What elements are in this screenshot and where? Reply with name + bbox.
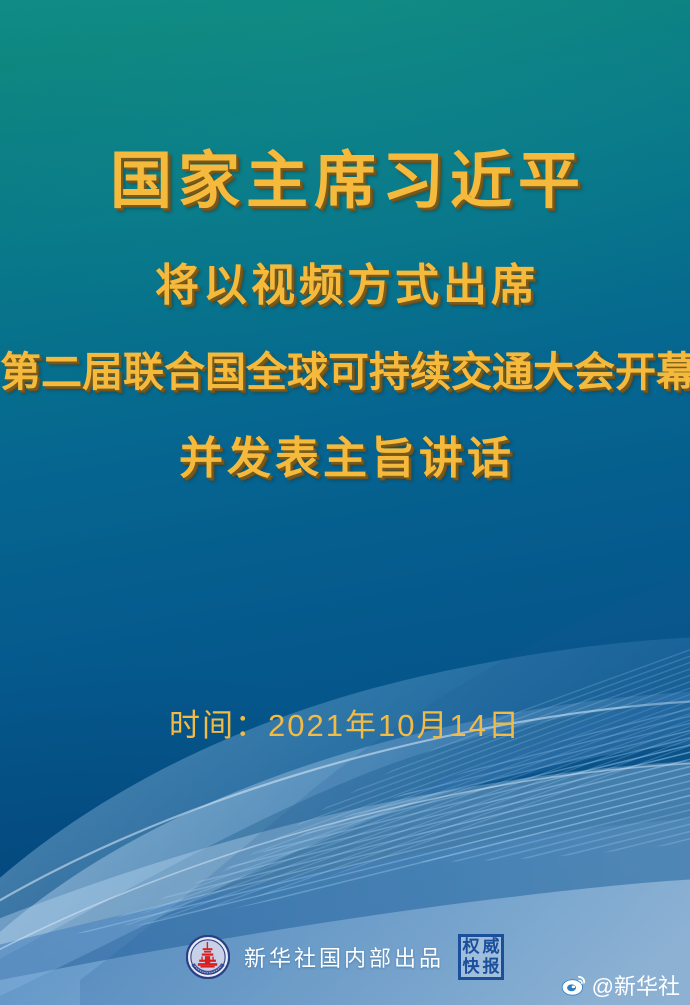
headline-line-3: 第二届联合国全球可持续交通大会开幕式 bbox=[0, 352, 690, 393]
seal-char-1: 权 bbox=[461, 937, 481, 957]
poster-root: 国家主席习近平 将以视频方式出席 第二届联合国全球可持续交通大会开幕式 并发表主… bbox=[0, 0, 690, 1005]
headline-line-2: 将以视频方式出席 bbox=[0, 264, 690, 308]
weibo-handle-group[interactable]: @新华社 bbox=[561, 969, 680, 1001]
xinhua-agency-logo-icon bbox=[186, 935, 230, 979]
seal-char-3: 快 bbox=[461, 957, 481, 977]
weibo-logo-icon[interactable] bbox=[561, 972, 587, 998]
footer-producer-text: 新华社国内部出品 bbox=[244, 941, 444, 973]
headline-group: 国家主席习近平 将以视频方式出席 第二届联合国全球可持续交通大会开幕式 并发表主… bbox=[0, 150, 690, 481]
seal-char-4: 报 bbox=[481, 957, 501, 977]
weibo-account-name[interactable]: @新华社 bbox=[592, 969, 680, 1001]
event-datetime: 时间：2021年10月14日 bbox=[0, 700, 690, 745]
headline-line-1: 国家主席习近平 bbox=[0, 150, 690, 212]
headline-line-4: 并发表主旨讲话 bbox=[0, 437, 690, 481]
authority-express-seal: 权 威 快 报 bbox=[458, 934, 504, 980]
seal-char-2: 威 bbox=[481, 937, 501, 957]
poster-content: 国家主席习近平 将以视频方式出席 第二届联合国全球可持续交通大会开幕式 并发表主… bbox=[0, 0, 690, 1005]
